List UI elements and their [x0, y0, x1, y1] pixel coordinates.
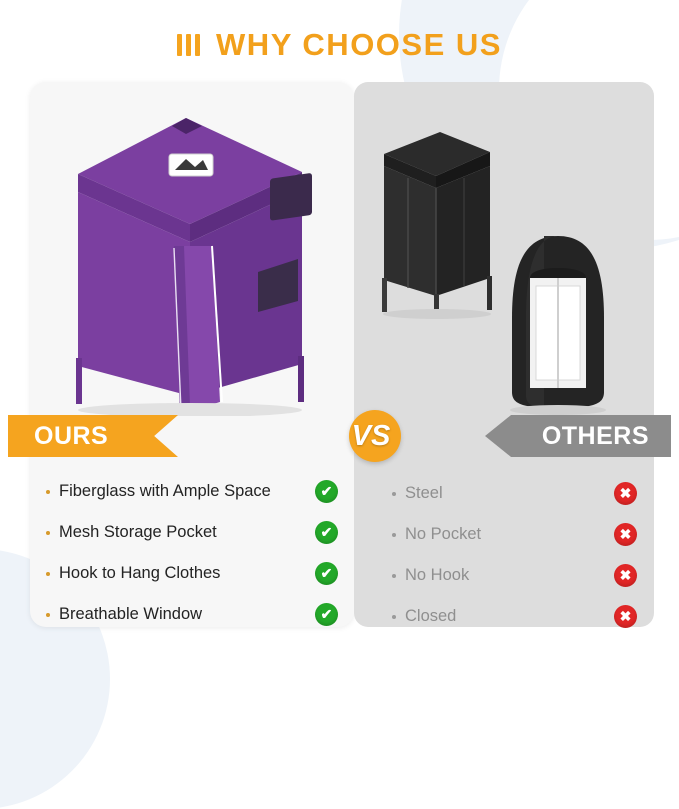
feature-label: Steel: [405, 484, 614, 503]
cross-icon: ✖: [614, 523, 637, 546]
cross-icon: ✖: [614, 564, 637, 587]
feature-label: Mesh Storage Pocket: [59, 523, 315, 542]
list-item: Closed ✖: [392, 601, 637, 632]
feature-label: No Hook: [405, 566, 614, 585]
ribbon-tail-right: [658, 457, 671, 468]
list-item: Mesh Storage Pocket ✔: [46, 517, 346, 548]
ours-ribbon-label: OURS: [34, 422, 108, 451]
ribbon-tail-left: [8, 457, 21, 468]
feature-label: Fiberglass with Ample Space: [59, 482, 315, 501]
list-item: Fiberglass with Ample Space ✔: [46, 476, 346, 507]
others-product-image-square-tent: [378, 128, 496, 320]
list-item: Hook to Hang Clothes ✔: [46, 558, 346, 589]
others-product-image-dome-tent: [500, 232, 616, 418]
feature-label: Closed: [405, 607, 614, 626]
check-icon: ✔: [315, 603, 338, 626]
bullet-icon: [46, 613, 50, 617]
bullet-icon: [46, 531, 50, 535]
feature-label: Breathable Window: [59, 605, 315, 624]
bullet-icon: [392, 533, 396, 537]
bullet-icon: [392, 574, 396, 578]
ours-feature-list: Fiberglass with Ample Space ✔ Mesh Stora…: [46, 476, 346, 640]
vs-badge: VS: [337, 404, 405, 468]
cross-icon: ✖: [614, 605, 637, 628]
others-feature-list: Steel ✖ No Pocket ✖ No Hook ✖ Closed ✖: [392, 478, 637, 642]
bullet-icon: [46, 490, 50, 494]
others-ribbon-label: OTHERS: [542, 422, 649, 451]
page-title: WHY CHOOSE US: [216, 27, 502, 63]
ours-product-image: [62, 96, 320, 416]
feature-label: No Pocket: [405, 525, 614, 544]
bullet-icon: [392, 615, 396, 619]
bullet-icon: [46, 572, 50, 576]
page-header: WHY CHOOSE US: [0, 22, 679, 68]
list-item: Steel ✖: [392, 478, 637, 509]
ours-ribbon: OURS: [8, 415, 178, 457]
three-bars-icon: [177, 34, 200, 56]
feature-label: Hook to Hang Clothes: [59, 564, 315, 583]
others-ribbon: OTHERS: [485, 415, 671, 457]
check-icon: ✔: [315, 562, 338, 585]
list-item: No Pocket ✖: [392, 519, 637, 550]
bullet-icon: [392, 492, 396, 496]
list-item: Breathable Window ✔: [46, 599, 346, 630]
list-item: No Hook ✖: [392, 560, 637, 591]
check-icon: ✔: [315, 521, 338, 544]
check-icon: ✔: [315, 480, 338, 503]
cross-icon: ✖: [614, 482, 637, 505]
vs-label: VS: [337, 404, 405, 468]
